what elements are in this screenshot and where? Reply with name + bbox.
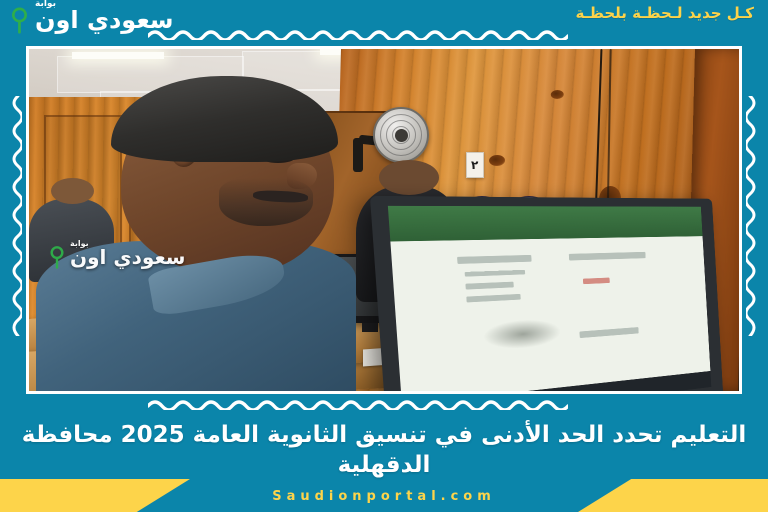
top-header-bar: بوابة سعودي اون كـل جديد لـحظـة بلحظـة bbox=[0, 0, 768, 42]
article-headline: التعليم تحدد الحد الأدنى في تنسيق الثانو… bbox=[0, 420, 768, 481]
wave-divider-right bbox=[746, 96, 758, 336]
wave-divider-bottom bbox=[148, 398, 568, 410]
site-tagline: كـل جديد لـحظـة بلحظـة bbox=[576, 4, 754, 22]
wall-sign-number: ٢ bbox=[466, 152, 484, 178]
scene-person-man bbox=[43, 76, 398, 391]
brand-title: سعودي اون bbox=[35, 8, 174, 32]
article-photo: ٢ bbox=[26, 46, 742, 394]
watermark-text: بوابة سعودي اون bbox=[70, 240, 185, 267]
photo-watermark: بوابة سعودي اون bbox=[49, 240, 185, 271]
site-url[interactable]: Saudionportal.com bbox=[0, 489, 768, 504]
scene-monitor-screen bbox=[387, 207, 711, 391]
watermark-magnifier-icon bbox=[49, 245, 66, 271]
poster-canvas: بوابة سعودي اون كـل جديد لـحظـة بلحظـة bbox=[0, 0, 768, 512]
photo-scene: ٢ bbox=[29, 49, 739, 391]
site-logo[interactable]: بوابة سعودي اون bbox=[10, 0, 174, 36]
site-logo-text: بوابة سعودي اون bbox=[35, 0, 174, 32]
wave-divider-left bbox=[10, 96, 22, 336]
watermark-title: سعودي اون bbox=[70, 247, 185, 267]
magnifier-icon bbox=[10, 6, 30, 36]
scene-monitor-foreground bbox=[370, 196, 724, 391]
